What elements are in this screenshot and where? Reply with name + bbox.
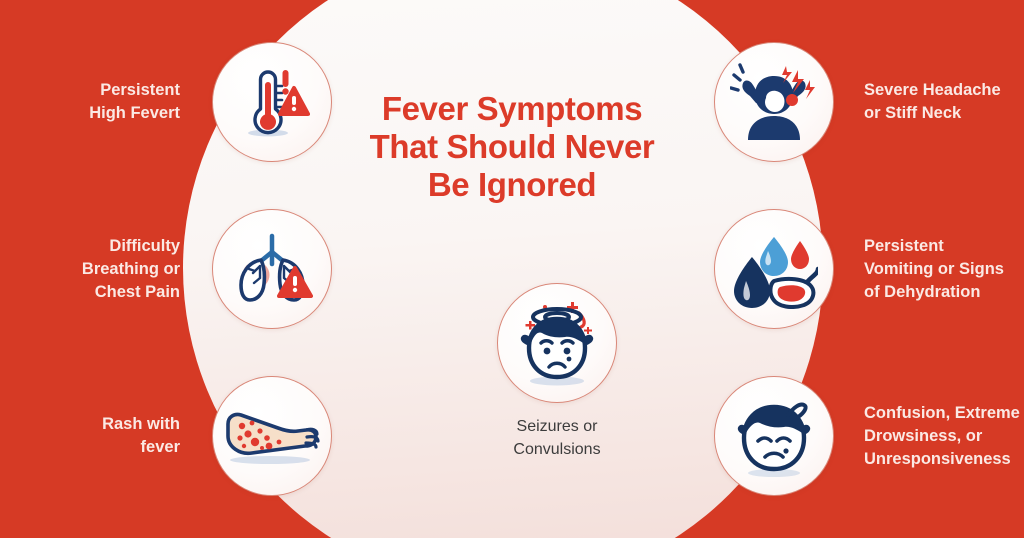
- symptom-difficulty-breathing: Difficulty Breathing or Chest Pain: [0, 209, 332, 329]
- symptom-label-rash-with-fever: Rash with fever: [0, 413, 212, 459]
- rash-arm-icon: [222, 400, 322, 472]
- symptom-severe-headache: Severe Headache or Stiff Neck: [714, 42, 1024, 162]
- icon-circle-rash-arm: [212, 376, 332, 496]
- symptom-persistent-vomiting: Persistent Vomiting or Signs of Dehydrat…: [714, 209, 1024, 329]
- icon-circle-lungs: [212, 209, 332, 329]
- symptom-label-seizures-convulsions: Seizures or Convulsions: [452, 403, 662, 461]
- fever-symptoms-infographic: Fever Symptoms That Should Never Be Igno…: [0, 0, 1024, 538]
- symptom-rash-with-fever: Rash with fever: [0, 376, 332, 496]
- headache-person-icon: [730, 62, 818, 142]
- symptom-label-difficulty-breathing: Difficulty Breathing or Chest Pain: [0, 235, 212, 304]
- symptom-label-severe-headache: Severe Headache or Stiff Neck: [834, 79, 1024, 125]
- water-drops-stomach-icon: [730, 229, 818, 309]
- dizzy-face-icon: [509, 297, 605, 389]
- icon-circle-drowsy-face: [714, 376, 834, 496]
- icon-circle-dehydration: [714, 209, 834, 329]
- symptom-persistent-high-fever: Persistent High Fevert: [0, 42, 332, 162]
- symptom-seizures-convulsions: Seizures or Convulsions: [452, 283, 662, 461]
- lungs-warning-icon: [231, 230, 313, 308]
- drowsy-face-icon: [728, 393, 820, 479]
- thermometer-warning-icon: [234, 64, 310, 140]
- icon-circle-dizzy-face: [497, 283, 617, 403]
- symptom-confusion-drowsiness: Confusion, Extreme Drowsiness, or Unresp…: [714, 376, 1024, 496]
- symptom-label-persistent-high-fever: Persistent High Fevert: [0, 79, 212, 125]
- symptom-label-persistent-vomiting: Persistent Vomiting or Signs of Dehydrat…: [834, 235, 1024, 304]
- symptom-label-confusion-drowsiness: Confusion, Extreme Drowsiness, or Unresp…: [834, 402, 1024, 471]
- icon-circle-thermometer: [212, 42, 332, 162]
- icon-circle-headache: [714, 42, 834, 162]
- page-title: Fever Symptoms That Should Never Be Igno…: [322, 90, 702, 204]
